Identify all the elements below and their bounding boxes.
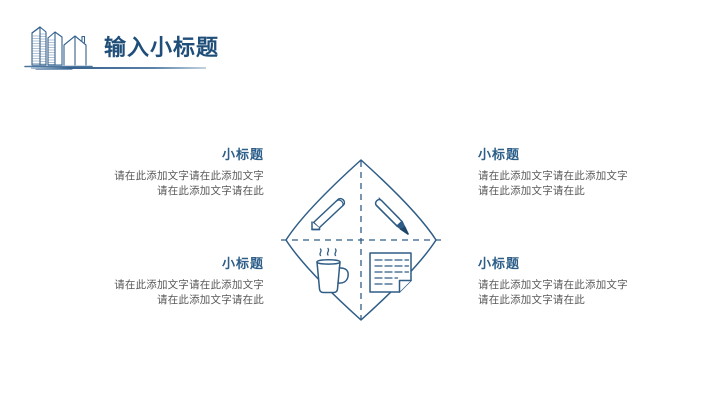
pencil-icon xyxy=(376,198,408,234)
text-block-title: 小标题 xyxy=(478,257,630,271)
text-block-body: 请在此添加文字请在此添加文字请在此添加文字请在此 xyxy=(112,278,264,308)
text-block-body: 请在此添加文字请在此添加文字请在此添加文字请在此 xyxy=(112,169,264,199)
page-header: 输入小标题 xyxy=(0,0,721,95)
text-block-bottom-left: 小标题 请在此添加文字请在此添加文字请在此添加文字请在此 xyxy=(112,257,264,308)
notepad-icon xyxy=(370,253,411,292)
text-block-body: 请在此添加文字请在此添加文字请在此添加文字请在此 xyxy=(478,169,630,199)
center-diamond-graphic xyxy=(278,152,444,328)
text-block-title: 小标题 xyxy=(112,148,264,162)
text-block-bottom-right: 小标题 请在此添加文字请在此添加文字请在此添加文字请在此 xyxy=(478,257,630,308)
text-block-top-right: 小标题 请在此添加文字请在此添加文字请在此添加文字请在此 xyxy=(478,148,630,199)
header-underline xyxy=(31,67,206,69)
coffee-cup-icon xyxy=(317,249,348,293)
text-block-title: 小标题 xyxy=(478,148,630,162)
text-block-top-left: 小标题 请在此添加文字请在此添加文字请在此添加文字请在此 xyxy=(112,148,264,199)
page-title: 输入小标题 xyxy=(104,37,219,59)
text-block-title: 小标题 xyxy=(112,257,264,271)
text-block-body: 请在此添加文字请在此添加文字请在此添加文字请在此 xyxy=(478,278,630,308)
city-buildings-sketch-icon xyxy=(22,24,100,72)
